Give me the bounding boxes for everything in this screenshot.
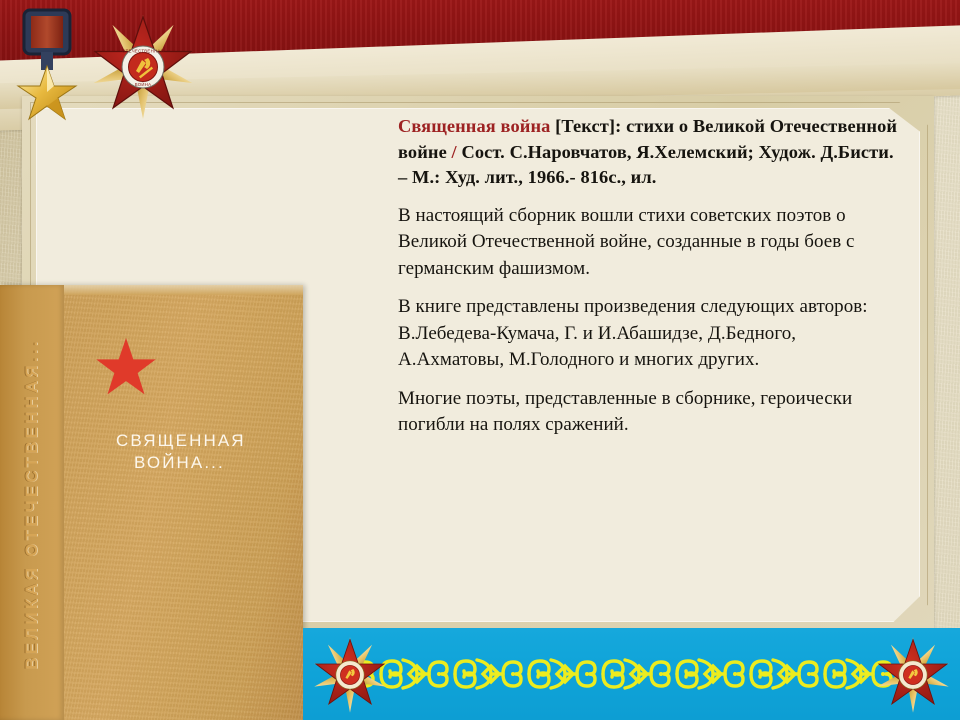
- annotation-paragraph-3: Многие поэты, представленные в сборнике,…: [398, 386, 898, 439]
- kazakh-scroll-ornament: [303, 650, 960, 698]
- book-spine-text: ВЕЛИКАЯ ОТЕЧЕСТВЕННАЯ...: [22, 289, 42, 719]
- order-of-patriotic-war-icon: ОТЕЧЕСТВЕННАЯ ВОЙНА: [88, 12, 198, 122]
- bib-after-title: [Текст]: стихи о: [550, 116, 688, 136]
- bibliographic-record: Священная война [Текст]: стихи о Великой…: [398, 114, 898, 191]
- book-title-text: Священная война: [398, 116, 550, 136]
- slide-root: Священная война [Текст]: стихи о Великой…: [0, 0, 960, 720]
- order-of-patriotic-war-icon: [311, 636, 389, 714]
- book-cover-image: ВЕЛИКАЯ ОТЕЧЕСТВЕННАЯ... СВЯЩЕННАЯ ВОЙНА…: [0, 285, 303, 720]
- order-of-patriotic-war-icon: [874, 636, 952, 714]
- bib-slash: /: [447, 142, 462, 162]
- gold-star-hero-medal-icon: [10, 6, 90, 124]
- bib-line3: С.Наровчатов, Я.Хелемский; Худож.: [510, 142, 816, 162]
- book-cover-title-line1: СВЯЩЕННАЯ: [116, 431, 246, 450]
- bib-line2-b: Сост.: [461, 142, 504, 162]
- bottom-ornament-banner: [303, 628, 960, 720]
- svg-text:ОТЕЧЕСТВЕННАЯ: ОТЕЧЕСТВЕННАЯ: [122, 49, 164, 54]
- book-cover-title-line2: ВОЙНА...: [116, 452, 296, 474]
- svg-text:ВОЙНА: ВОЙНА: [135, 82, 152, 87]
- annotation-paragraph-1: В настоящий сборник вошли стихи советски…: [398, 203, 898, 283]
- book-cover-title: СВЯЩЕННАЯ ВОЙНА...: [116, 430, 296, 474]
- annotation-paragraph-2: В книге представлены произведения следую…: [398, 294, 898, 374]
- text-column: Священная война [Текст]: стихи о Великой…: [398, 114, 898, 451]
